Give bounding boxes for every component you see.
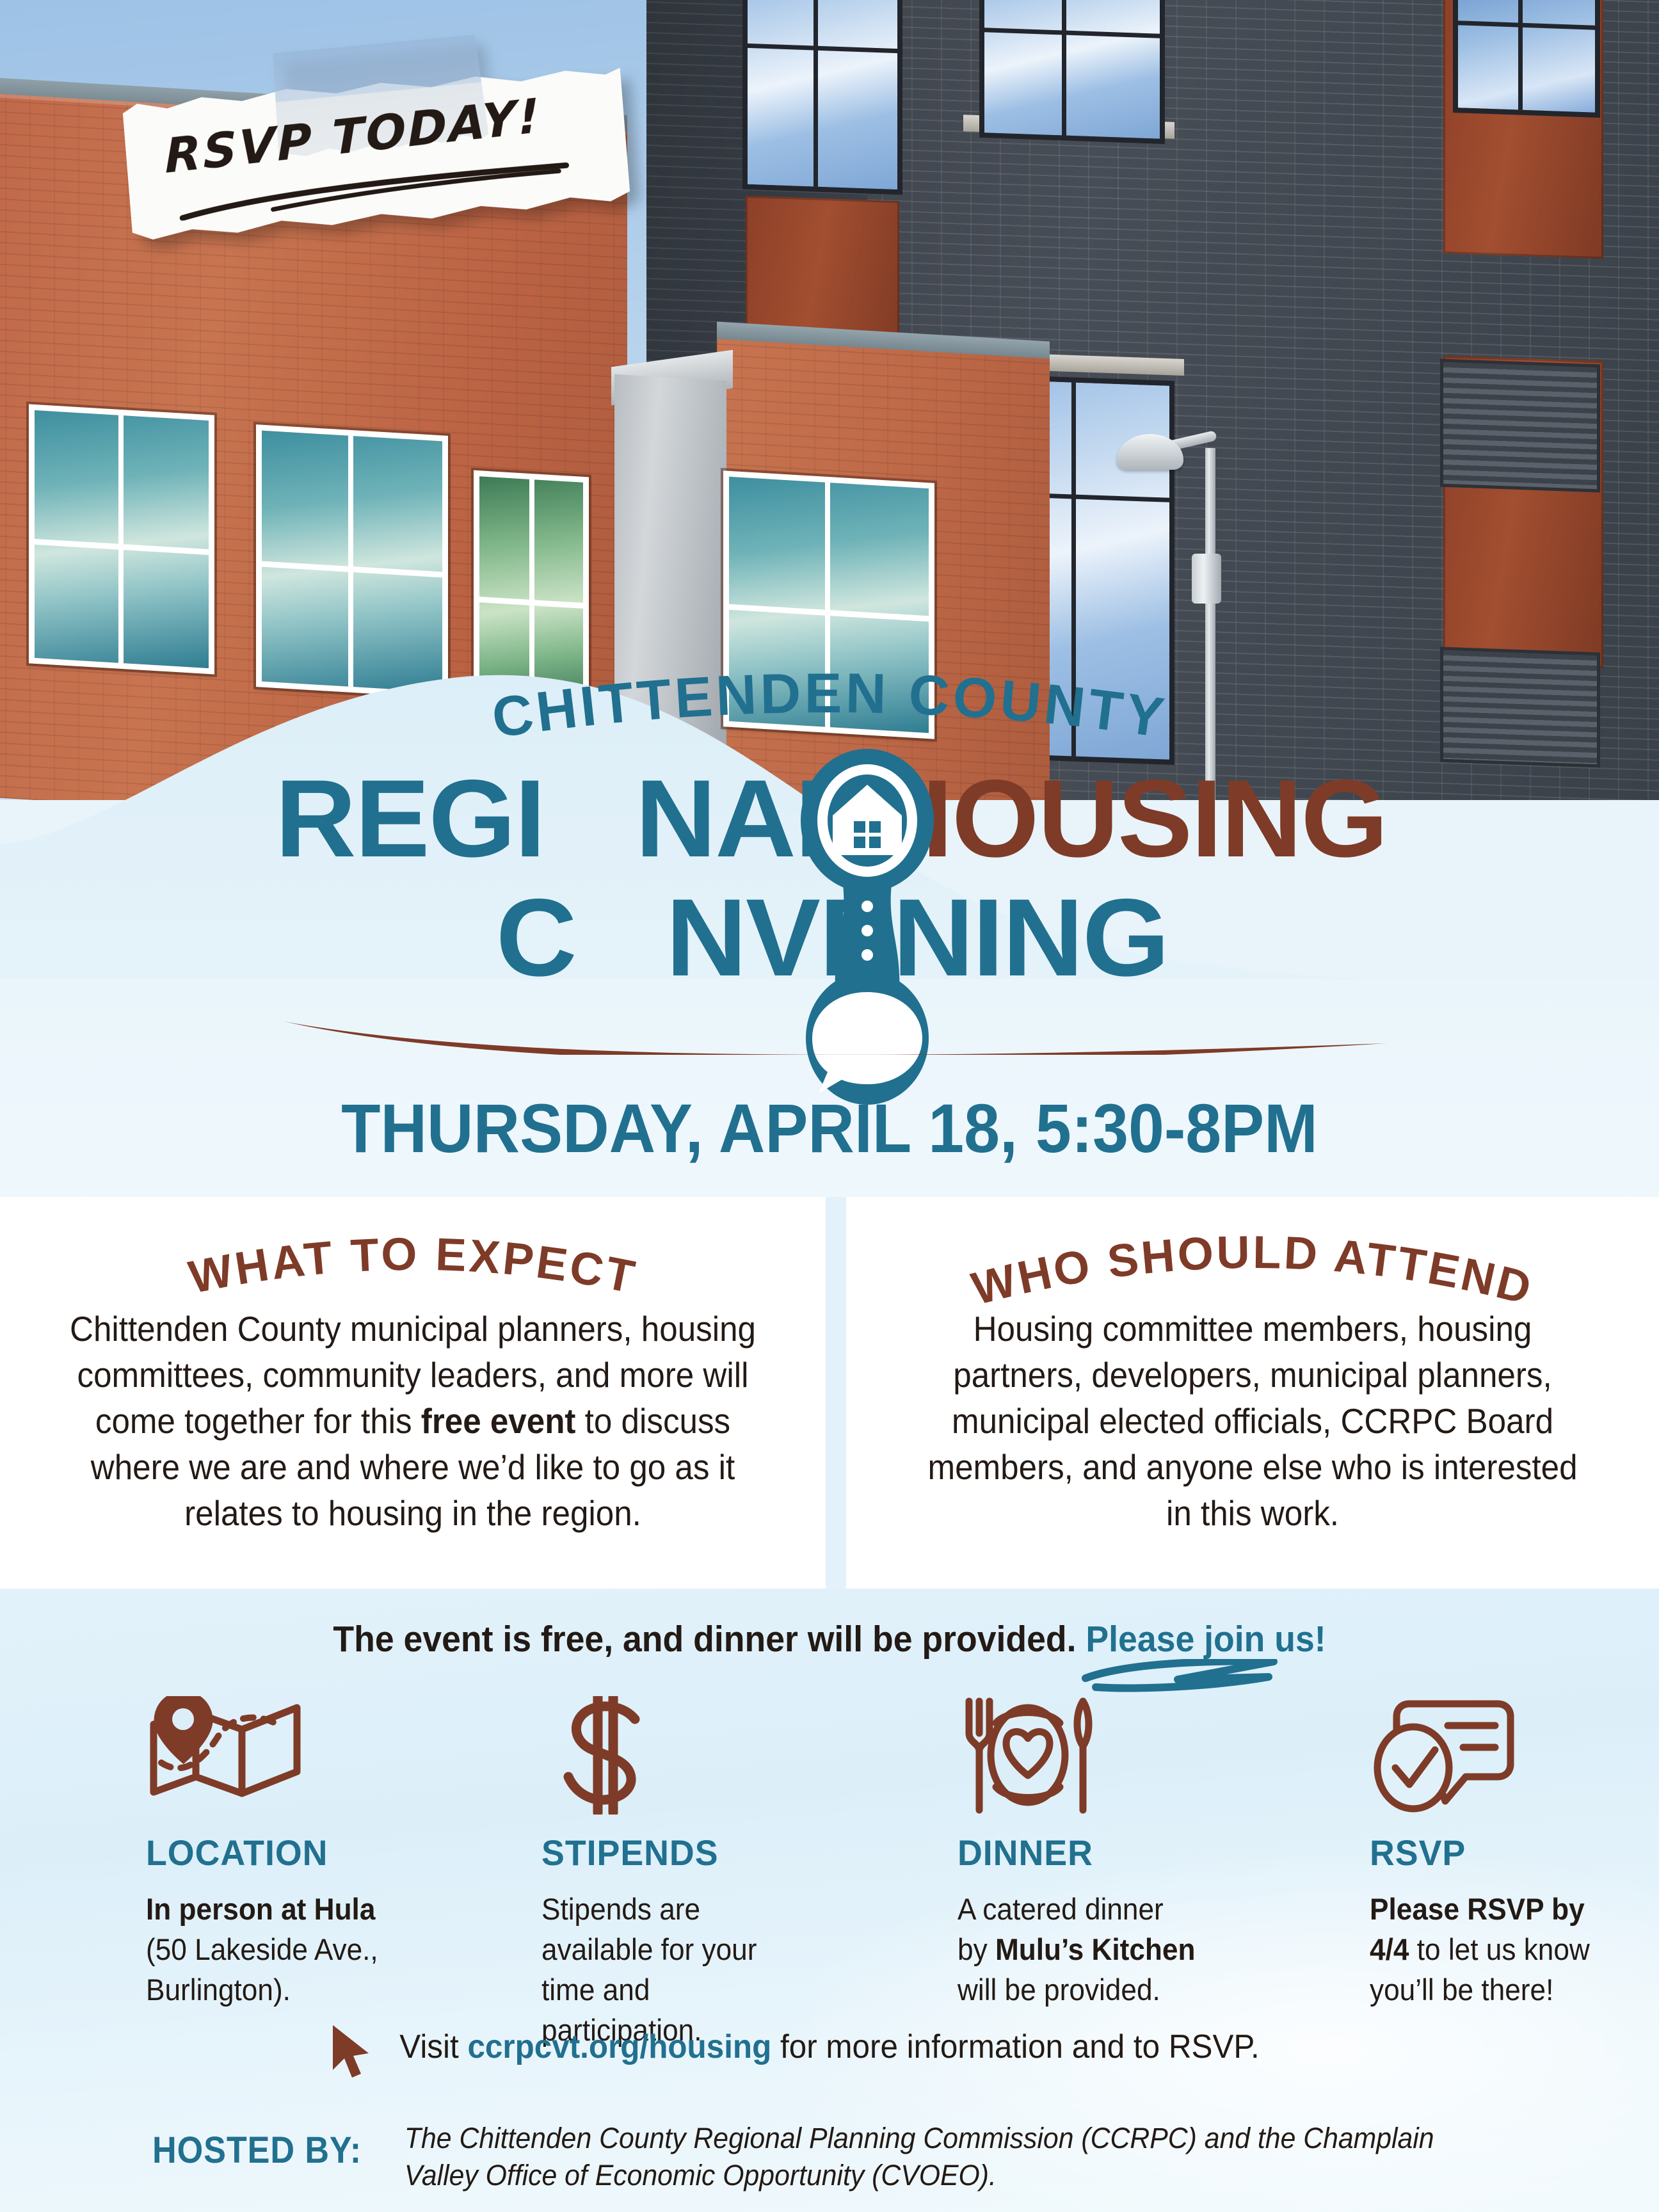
title-swoosh-icon bbox=[282, 1016, 1389, 1055]
label-rsvp: RSVP bbox=[1370, 1832, 1647, 1873]
dollar-sign-icon bbox=[541, 1696, 829, 1818]
column-what-to-expect: WHAT TO EXPECT Chittenden County municip… bbox=[0, 1197, 826, 1589]
map-pin-icon bbox=[146, 1696, 415, 1818]
svg-text:WHAT TO EXPECT: WHAT TO EXPECT bbox=[185, 1229, 641, 1304]
streetlamp-pole bbox=[1205, 448, 1215, 800]
heading-what-to-expect: WHAT TO EXPECT bbox=[42, 1237, 783, 1306]
text-dinner: A catered dinner by Mulu’s Kitchen will … bbox=[958, 1889, 1198, 2010]
free-text: The event is free, and dinner will be pr… bbox=[333, 1619, 1076, 1660]
louver-vent bbox=[1440, 359, 1600, 493]
building-window bbox=[979, 0, 1165, 144]
speech-check-icon bbox=[1370, 1696, 1659, 1818]
building-window bbox=[742, 0, 902, 195]
heading-text: WHO SHOULD ATTEND bbox=[967, 1227, 1539, 1315]
text-location: In person at Hula (50 Lakeside Ave., Bur… bbox=[146, 1889, 387, 2010]
location-address: (50 Lakeside Ave., Burlington). bbox=[146, 1932, 378, 2007]
dinner-part-2: will be provided. bbox=[958, 1973, 1160, 2007]
body-bold: free event bbox=[421, 1401, 576, 1441]
hosted-by-row: HOSTED BY: The Chittenden County Regiona… bbox=[152, 2120, 1560, 2194]
hosted-by-text: The Chittenden County Regional Planning … bbox=[391, 2120, 1492, 2194]
item-dinner: DINNER A catered dinner by Mulu’s Kitche… bbox=[829, 1696, 1244, 2050]
body-who-should-attend: Housing committee members, housing partn… bbox=[914, 1306, 1591, 1536]
text-rsvp: Please RSVP by 4/4 to let us know you’ll… bbox=[1370, 1889, 1610, 2010]
item-location: LOCATION In person at Hula (50 Lakeside … bbox=[0, 1696, 415, 2050]
detail-items: LOCATION In person at Hula (50 Lakeside … bbox=[0, 1696, 1659, 2050]
title-c: C bbox=[495, 881, 576, 995]
heading-who-should-attend: WHO SHOULD ATTEND bbox=[888, 1237, 1617, 1306]
scribble-underline-icon bbox=[1082, 1659, 1280, 1694]
louver-vent bbox=[1440, 647, 1600, 768]
event-date: THURSDAY, APRIL 18, 5:30-8PM bbox=[58, 1088, 1601, 1168]
label-location: LOCATION bbox=[146, 1832, 404, 1873]
building-window bbox=[723, 470, 934, 739]
visit-suffix: for more information and to RSVP. bbox=[771, 2028, 1259, 2065]
free-dinner-line: The event is free, and dinner will be pr… bbox=[50, 1618, 1609, 1660]
column-who-should-attend: WHO SHOULD ATTEND Housing committee memb… bbox=[846, 1197, 1659, 1589]
dinner-caterer: Mulu’s Kitchen bbox=[995, 1932, 1196, 1966]
svg-text:WHO SHOULD ATTEND: WHO SHOULD ATTEND bbox=[967, 1227, 1539, 1315]
location-venue: In person at Hula bbox=[146, 1892, 375, 1926]
visit-line: Visit ccrpcvt.org/housing for more infor… bbox=[42, 2028, 1617, 2066]
hosted-by-label: HOSTED BY: bbox=[152, 2120, 362, 2172]
join-us-text: Please join us! bbox=[1086, 1619, 1326, 1660]
event-flyer: RSVP TODAY! CHITTENDEN COUNTY REGINALHOU… bbox=[0, 0, 1659, 2212]
building-window bbox=[29, 404, 214, 674]
heading-text: WHAT TO EXPECT bbox=[185, 1229, 641, 1304]
visit-url[interactable]: ccrpcvt.org/housing bbox=[467, 2028, 771, 2065]
body-what-to-expect: Chittenden County municipal planners, ho… bbox=[68, 1306, 758, 1536]
streetlamp-box bbox=[1192, 554, 1221, 604]
label-stipends: STIPENDS bbox=[541, 1832, 818, 1873]
plate-heart-icon bbox=[958, 1696, 1244, 1818]
item-rsvp: RSVP Please RSVP by 4/4 to let us know y… bbox=[1244, 1696, 1659, 2050]
title-regi: REGI bbox=[275, 762, 544, 876]
info-columns: WHAT TO EXPECT Chittenden County municip… bbox=[0, 1197, 1659, 1589]
text-stipends: Stipends are available for your time and… bbox=[541, 1889, 782, 2050]
building-window bbox=[1453, 0, 1600, 118]
item-stipends: STIPENDS Stipends are available for your… bbox=[415, 1696, 829, 2050]
building-window bbox=[256, 424, 448, 698]
visit-prefix: Visit bbox=[399, 2028, 467, 2065]
label-dinner: DINNER bbox=[958, 1832, 1233, 1873]
